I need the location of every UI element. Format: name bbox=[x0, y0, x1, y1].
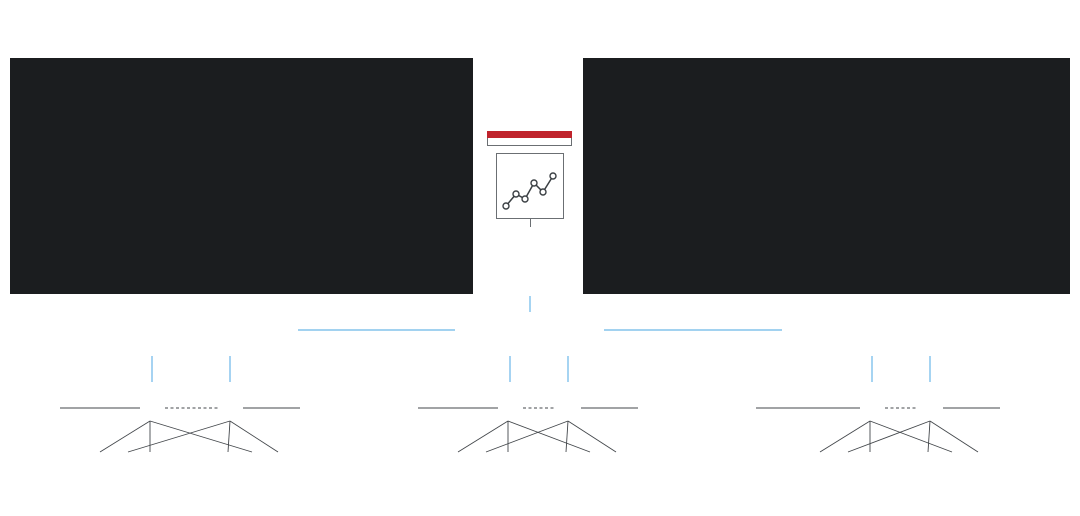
right-dashboard bbox=[583, 58, 1070, 294]
left-dashboard bbox=[10, 58, 473, 294]
elk-block bbox=[487, 131, 572, 233]
elk-label bbox=[487, 131, 572, 138]
line-chart-icon bbox=[496, 153, 564, 219]
topology-links bbox=[0, 296, 1080, 516]
network-topology bbox=[0, 296, 1080, 516]
